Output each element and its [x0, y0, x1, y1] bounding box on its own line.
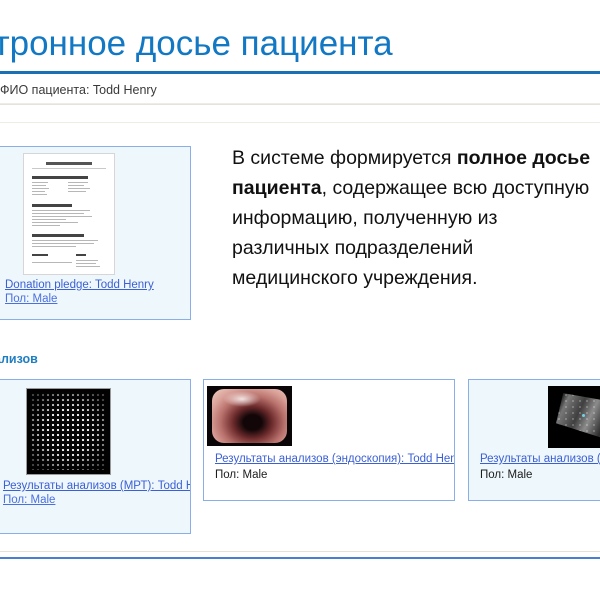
doc-section-2 [32, 204, 72, 207]
doc-text-line [68, 185, 84, 186]
card-meta-mri: Пол: Male [3, 494, 55, 506]
doc-field-label-left [32, 254, 48, 256]
doc-heading-rule [32, 168, 106, 169]
doc-text-line [76, 266, 100, 267]
ultrasound-thumbnail[interactable] [548, 386, 600, 448]
card-donation-pledge[interactable]: Donation pledge: Todd Henry Пол: Male [0, 146, 191, 320]
card-mri-results[interactable]: Результаты анализов (МРТ): Todd Henry По… [0, 379, 191, 534]
ultrasound-marker-dot [582, 414, 585, 417]
intro-lead: В системе формируется [232, 147, 457, 169]
doc-text-line [32, 225, 60, 226]
doc-text-line [32, 194, 47, 195]
doc-text-line [32, 182, 48, 183]
doc-text-line [32, 185, 46, 186]
slide-canvas: Электронное досье пациента ФИО пациента:… [0, 0, 600, 600]
card-meta-endoscopy: Пол: Male [215, 469, 267, 481]
doc-heading-bar [46, 162, 92, 165]
intro-tail: , содержащее всю доступную [322, 177, 590, 199]
intro-line-4: различных подразделений [232, 233, 600, 263]
ultrasound-speckle [556, 391, 600, 443]
intro-line-5: медицинского учреждения. [232, 263, 600, 293]
divider-top [0, 103, 600, 104]
card-meta-ultrasound: Пол: Male [480, 469, 532, 481]
doc-text-line [32, 219, 66, 220]
doc-text-line [32, 213, 84, 214]
doc-text-line [32, 240, 98, 241]
footer-divider-beige [0, 551, 600, 552]
doc-text-line [68, 191, 86, 192]
doc-section-3 [32, 234, 84, 237]
page-title: Электронное досье пациента [0, 22, 393, 66]
divider-second [0, 122, 600, 123]
patient-subtitle: ФИО пациента: Todd Henry [0, 83, 157, 97]
card-endoscopy-results[interactable]: Результаты анализов (эндоскопия): Todd H… [203, 379, 455, 501]
doc-text-line [32, 210, 90, 211]
card-link-donation-pledge[interactable]: Donation pledge: Todd Henry [5, 279, 154, 291]
section-header-label: Результаты анализов [0, 352, 44, 366]
card-link-endoscopy[interactable]: Результаты анализов (эндоскопия): Todd H… [215, 453, 455, 465]
doc-text-line [76, 263, 96, 264]
card-ultrasound-results[interactable]: Результаты анализов (ультразвук): Todd H… [468, 379, 600, 501]
intro-bold-1: полное досье [457, 147, 590, 169]
footer-divider-blue [0, 557, 600, 559]
card-link-ultrasound[interactable]: Результаты анализов (ультразвук): Todd H… [480, 453, 600, 465]
section-header-results: Результаты анализов [0, 352, 600, 372]
intro-line-3: информацию, полученную из [232, 203, 600, 233]
card-link-mri[interactable]: Результаты анализов (МРТ): Todd Henry [3, 480, 191, 492]
intro-bold-2: пациента [232, 177, 322, 199]
doc-text-line [32, 191, 45, 192]
endoscopy-highlight [223, 391, 261, 407]
intro-paragraph: В системе формируется полное досье пацие… [232, 143, 600, 293]
patient-subtitle-bar: ФИО пациента: Todd Henry [0, 78, 600, 105]
mri-thumbnail[interactable] [26, 388, 111, 475]
title-divider [0, 71, 600, 74]
doc-text-line [32, 216, 92, 217]
doc-text-line [68, 188, 90, 189]
doc-text-line [32, 262, 72, 263]
card-meta-donation-pledge: Пол: Male [5, 293, 57, 305]
doc-text-line [32, 243, 94, 244]
doc-text-line [76, 260, 98, 261]
doc-text-line [32, 188, 49, 189]
doc-text-line [68, 182, 88, 183]
doc-text-line [32, 222, 78, 223]
mri-vignette [27, 389, 110, 474]
doc-text-line [32, 246, 76, 247]
doc-field-label-right [76, 254, 86, 256]
document-thumbnail[interactable] [23, 153, 115, 275]
section-divider-line [0, 363, 600, 364]
endoscopy-thumbnail[interactable] [207, 386, 292, 446]
doc-section-1 [32, 176, 88, 179]
